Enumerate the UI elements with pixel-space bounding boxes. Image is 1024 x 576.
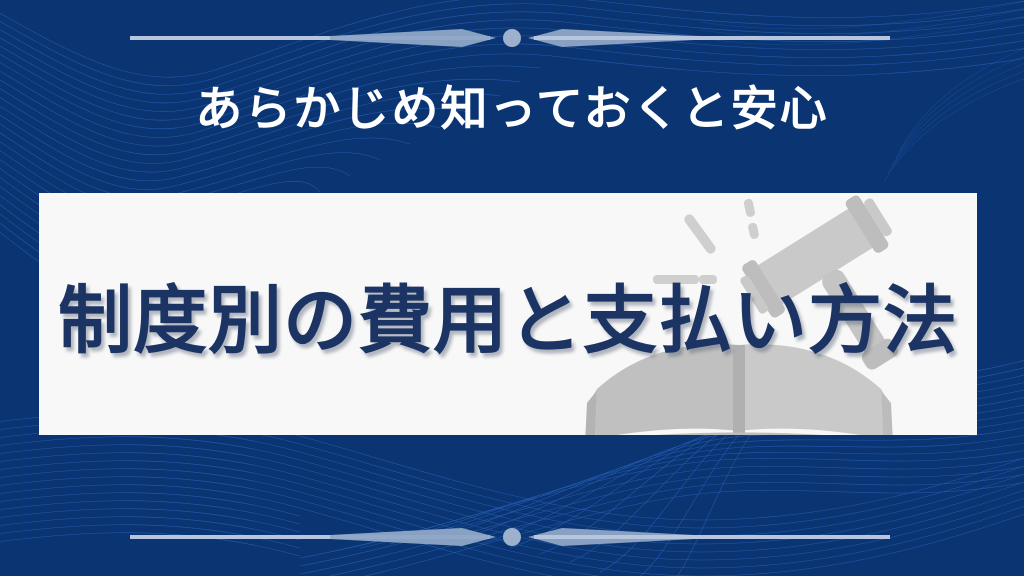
divider-center-dot bbox=[503, 29, 521, 47]
divider-arrow-right bbox=[528, 29, 694, 47]
divider-arrow-right bbox=[528, 528, 694, 546]
slide-canvas: あらかじめ知っておくと安心 bbox=[0, 0, 1024, 576]
divider-arrow-left bbox=[330, 528, 496, 546]
slide-title: 制度別の費用と支払い方法 bbox=[39, 193, 977, 435]
divider-line-right bbox=[534, 36, 890, 40]
top-divider-decoration bbox=[0, 16, 1024, 60]
divider-center-dot bbox=[503, 528, 521, 546]
divider-line-left bbox=[130, 36, 490, 40]
divider-line-right bbox=[534, 535, 890, 539]
title-card: 制度別の費用と支払い方法 bbox=[39, 193, 977, 435]
divider-arrow-left bbox=[330, 29, 496, 47]
bottom-divider-decoration bbox=[0, 515, 1024, 559]
divider-line-left bbox=[130, 535, 490, 539]
slide-subtitle: あらかじめ知っておくと安心 bbox=[0, 82, 1024, 138]
